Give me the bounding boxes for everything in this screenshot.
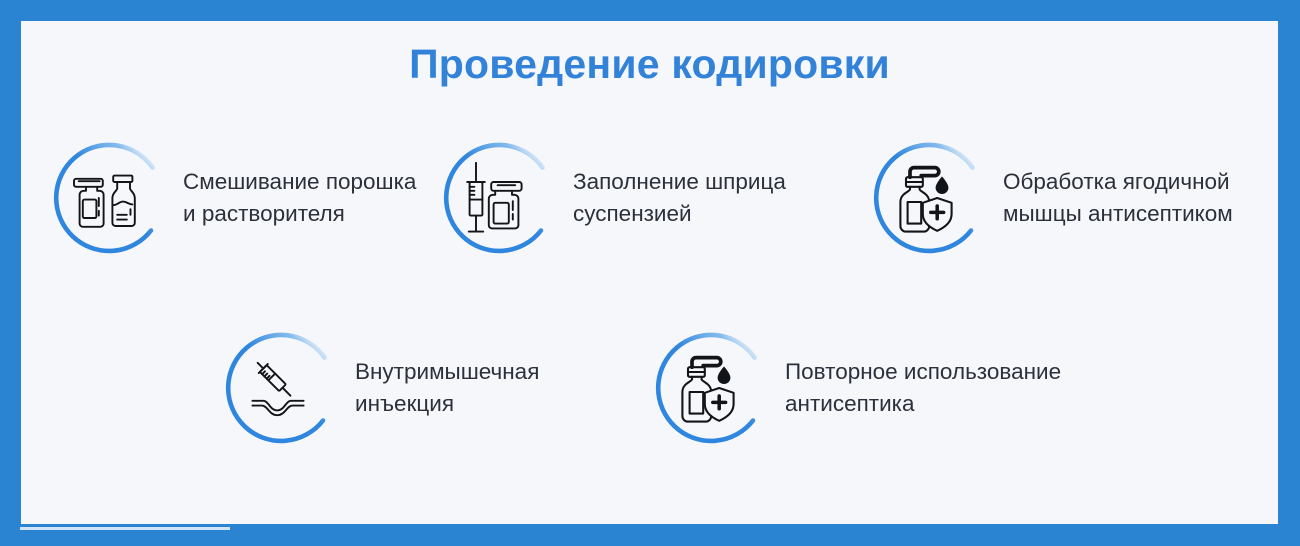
step-badge-5 [637, 317, 779, 459]
poster-canvas: Проведение кодировки [21, 21, 1278, 524]
intramuscular-injection-icon [238, 348, 318, 428]
antiseptic-dispenser-shield-icon [668, 348, 748, 428]
step-item-4[interactable]: Внутримышечная инъекция [207, 317, 637, 459]
syringe-and-vial-icon [456, 158, 536, 238]
steps-row-bottom: Внутримышечная инъекция [207, 317, 1267, 459]
step-badge-4 [207, 317, 349, 459]
step-label-5: Повторное использование антисептика [779, 356, 1109, 420]
step-label-4: Внутримышечная инъекция [349, 356, 637, 420]
infographic-poster: Проведение кодировки [0, 0, 1300, 546]
step-item-1[interactable]: Смешивание порошка и растворителя [35, 127, 425, 269]
steps-row-top: Смешивание порошка и растворителя [35, 127, 1275, 269]
frame-accent-line [20, 527, 230, 530]
step-label-1: Смешивание порошка и растворителя [177, 166, 425, 230]
step-badge-2 [425, 127, 567, 269]
step-badge-3 [855, 127, 997, 269]
step-item-3[interactable]: Обработка ягодичной мышцы антисептиком [855, 127, 1275, 269]
antiseptic-dispenser-shield-icon [886, 158, 966, 238]
step-label-2: Заполнение шприца суспензией [567, 166, 855, 230]
step-label-3: Обработка ягодичной мышцы антисептиком [997, 166, 1267, 230]
step-item-5[interactable]: Повторное использование антисептика [637, 317, 1157, 459]
step-item-2[interactable]: Заполнение шприца суспензией [425, 127, 855, 269]
powder-vial-and-solvent-bottle-icon [66, 158, 146, 238]
step-badge-1 [35, 127, 177, 269]
page-title: Проведение кодировки [21, 41, 1278, 88]
